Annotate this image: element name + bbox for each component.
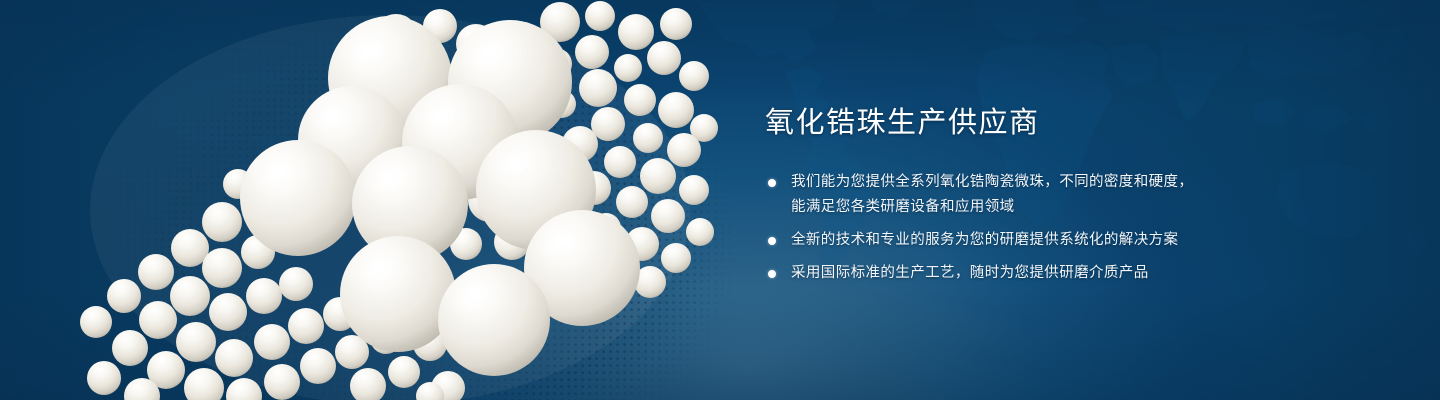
banner-copy: 氧化锆珠生产供应商 我们能为您提供全系列氧化锆陶瓷微珠，不同的密度和硬度， 能满… (765, 104, 1385, 286)
bullet-text: 我们能为您提供全系列氧化锆陶瓷微珠，不同的密度和硬度， (791, 170, 1385, 195)
bullet-dot-icon (768, 179, 776, 187)
page-title: 氧化锆珠生产供应商 (765, 104, 1385, 142)
bullet-dot-icon (768, 270, 776, 278)
list-item: 全新的技术和专业的服务为您的研磨提供系统化的解决方案 (765, 228, 1385, 253)
hero-banner: 氧化锆珠生产供应商 我们能为您提供全系列氧化锆陶瓷微珠，不同的密度和硬度， 能满… (0, 0, 1440, 400)
bullet-text: 全新的技术和专业的服务为您的研磨提供系统化的解决方案 (791, 228, 1385, 253)
list-item: 采用国际标准的生产工艺，随时为您提供研磨介质产品 (765, 261, 1385, 286)
bullet-text: 采用国际标准的生产工艺，随时为您提供研磨介质产品 (791, 261, 1385, 286)
list-item: 我们能为您提供全系列氧化锆陶瓷微珠，不同的密度和硬度， 能满足您各类研磨设备和应… (765, 170, 1385, 220)
bullet-text: 能满足您各类研磨设备和应用领域 (791, 195, 1385, 220)
bullet-dot-icon (768, 237, 776, 245)
feature-bullet-list: 我们能为您提供全系列氧化锆陶瓷微珠，不同的密度和硬度， 能满足您各类研磨设备和应… (765, 170, 1385, 286)
